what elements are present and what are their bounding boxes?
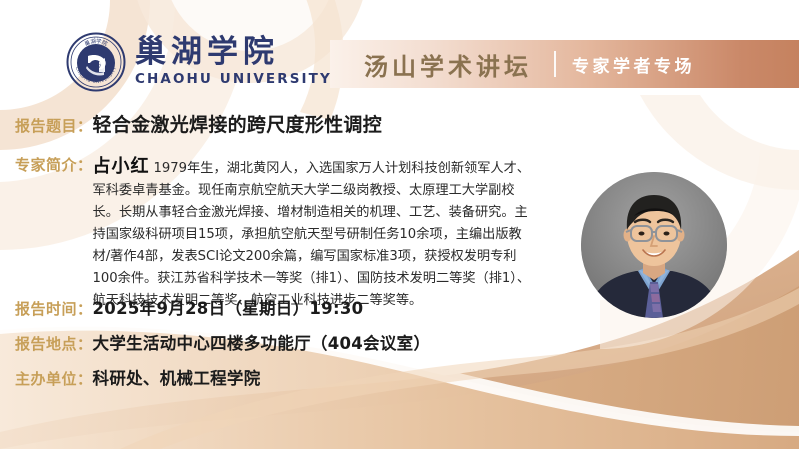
speaker-bio-label: 专家简介： (15, 152, 93, 175)
svg-text:1977: 1977 (91, 64, 102, 69)
poster-root: 1977 ⌒ 巢湖学院 CHAOHU UNIVERSITY 巢湖学院 CH (0, 0, 799, 449)
speaker-bio-text: 1979年生，湖北黄冈人，入选国家万人计划科技创新领军人才、军科委卓青基金。现任… (93, 161, 531, 308)
university-name-block: 巢湖学院 CHAOHU UNIVERSITY (135, 37, 332, 87)
report-title-label: 报告题目： (15, 115, 93, 136)
report-title-row: 报告题目： 轻合金激光焊接的跨尺度形性调控 (15, 110, 382, 137)
report-place-label: 报告地点： (15, 333, 93, 354)
university-name-cn: 巢湖学院 (135, 37, 332, 68)
chaohu-university-seal-icon: 1977 ⌒ 巢湖学院 CHAOHU UNIVERSITY (66, 32, 126, 92)
report-time-row: 报告时间： 2025年9月28日（星期日）19:30 (15, 295, 363, 319)
report-place-row: 报告地点： 大学生活动中心四楼多功能厅（404会议室） (15, 330, 430, 354)
report-time-value: 2025年9月28日（星期日）19:30 (93, 295, 364, 319)
organizer-row: 主办单位： 科研处、机械工程学院 (15, 365, 261, 389)
speaker-bio-body: 占小红1979年生，湖北黄冈人，入选国家万人计划科技创新领军人才、军科委卓青基金… (93, 152, 531, 311)
university-name-en: CHAOHU UNIVERSITY (135, 73, 332, 87)
poster-header: 1977 ⌒ 巢湖学院 CHAOHU UNIVERSITY 巢湖学院 CH (0, 0, 799, 100)
organizer-label: 主办单位： (15, 368, 93, 389)
report-time-label: 报告时间： (15, 298, 93, 319)
speaker-portrait-illustration (581, 172, 727, 318)
report-place-value: 大学生活动中心四楼多功能厅（404会议室） (93, 330, 431, 354)
speaker-name: 占小红 (93, 156, 150, 177)
banner-subtitle: 专家学者专场 (572, 52, 695, 77)
university-logo-block: 1977 ⌒ 巢湖学院 CHAOHU UNIVERSITY 巢湖学院 CH (66, 32, 332, 92)
event-series-banner: 汤山学术讲坛 专家学者专场 (330, 40, 799, 88)
banner-main-title: 汤山学术讲坛 (364, 47, 532, 82)
speaker-bio-row: 专家简介： 占小红1979年生，湖北黄冈人，入选国家万人计划科技创新领军人才、军… (15, 152, 535, 311)
speaker-portrait (581, 172, 727, 318)
banner-divider (554, 51, 556, 77)
report-title-value: 轻合金激光焊接的跨尺度形性调控 (93, 110, 383, 137)
organizer-value: 科研处、机械工程学院 (93, 365, 261, 389)
